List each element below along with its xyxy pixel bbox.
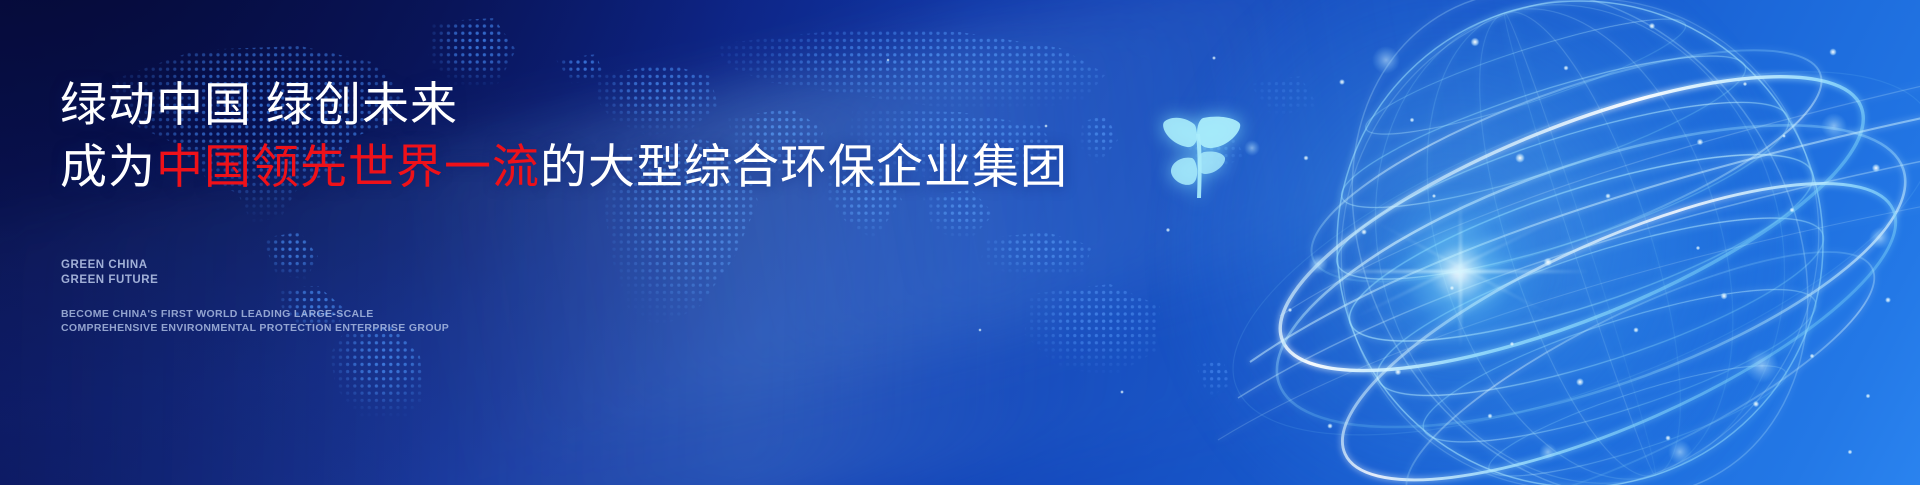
- tagline-line-1: GREEN CHINA: [61, 258, 158, 273]
- copy-block: 绿动中国 绿创未来 成为中国领先世界一流的大型综合环保企业集团 GREEN CH…: [60, 0, 1080, 485]
- tagline-line-2: GREEN FUTURE: [61, 273, 158, 288]
- tagline-english: GREEN CHINA GREEN FUTURE: [61, 258, 158, 287]
- headline-line-2-prefix: 成为: [60, 140, 156, 193]
- hero-banner: 绿动中国 绿创未来 成为中国领先世界一流的大型综合环保企业集团 GREEN CH…: [0, 0, 1920, 485]
- headline-line-2-suffix: 的大型综合环保企业集团: [540, 140, 1068, 193]
- subtagline-line-1: BECOME CHINA'S FIRST WORLD LEADING LARGE…: [61, 308, 449, 322]
- page-title: 绿动中国 绿创未来 成为中国领先世界一流的大型综合环保企业集团: [60, 74, 1068, 198]
- subtagline-line-2: COMPREHENSIVE ENVIRONMENTAL PROTECTION E…: [61, 322, 449, 336]
- headline-line-2: 成为中国领先世界一流的大型综合环保企业集团: [60, 136, 1068, 198]
- headline-line-1: 绿动中国 绿创未来: [60, 74, 1068, 136]
- headline-accent-text: 中国领先世界一流: [156, 140, 540, 193]
- subtagline-english: BECOME CHINA'S FIRST WORLD LEADING LARGE…: [61, 308, 449, 335]
